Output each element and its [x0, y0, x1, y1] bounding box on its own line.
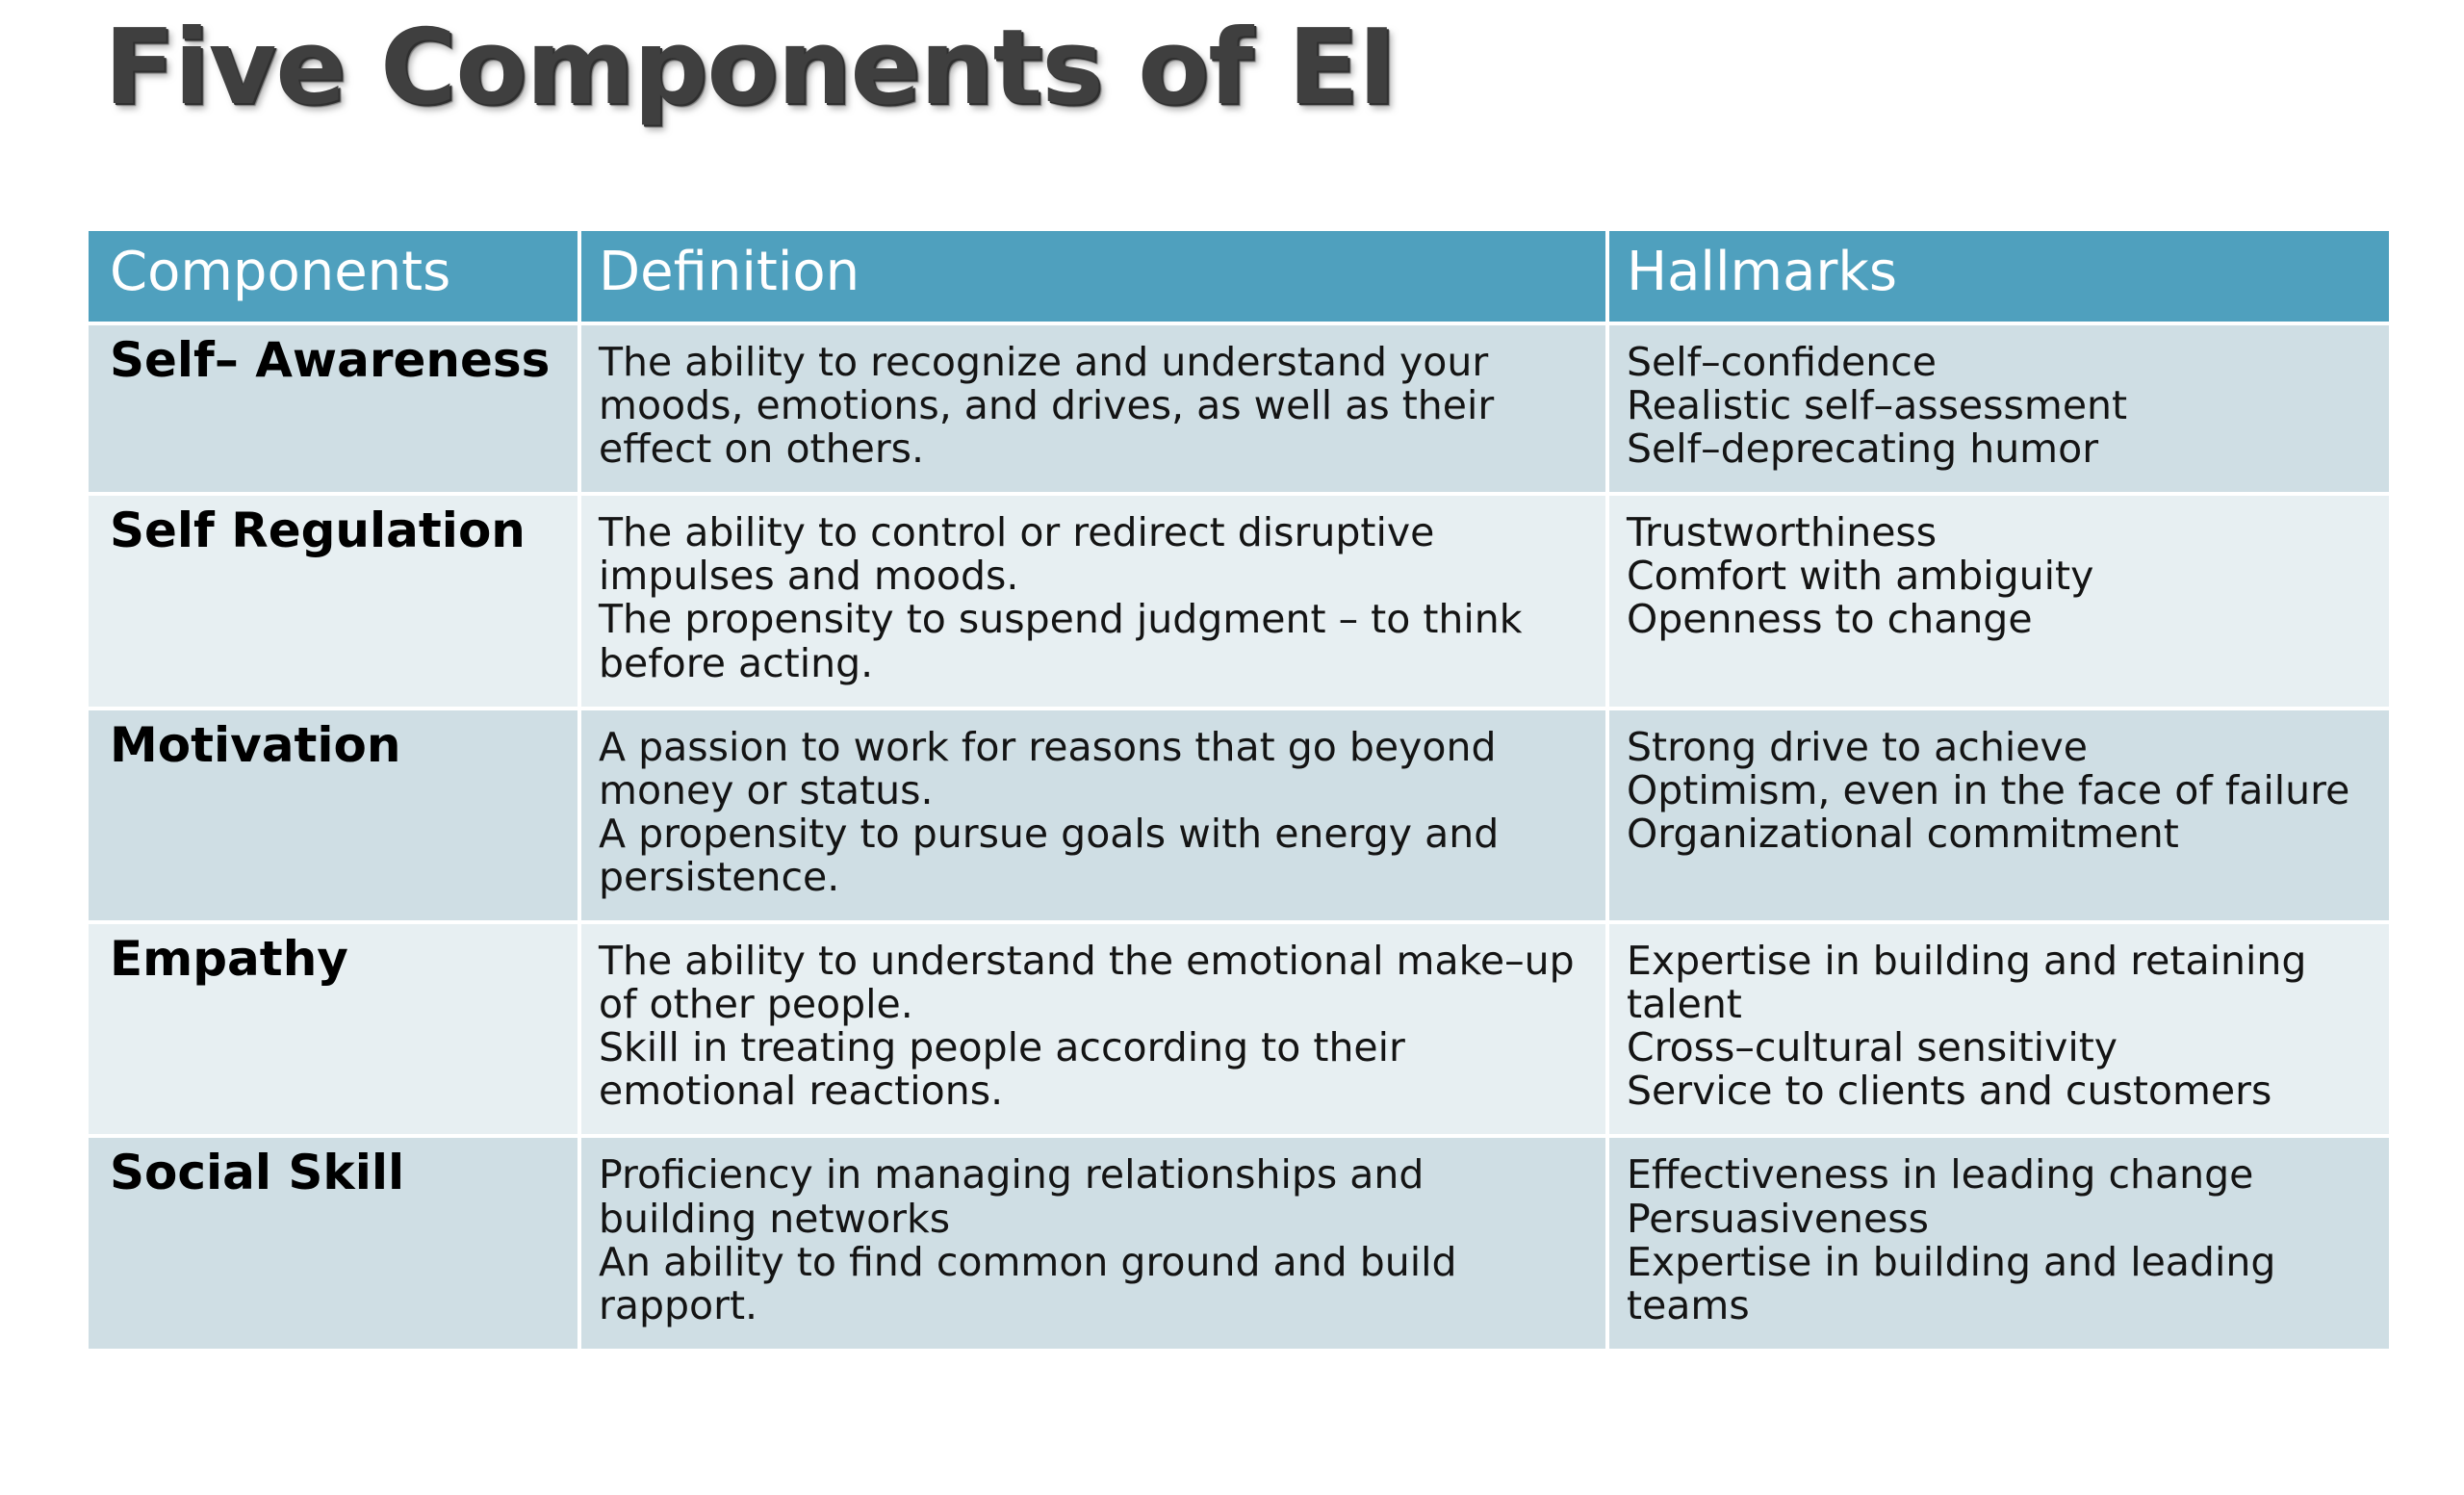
- table-header: Components Definition Hallmarks: [89, 231, 2389, 322]
- cell-definition: The ability to recognize and understand …: [577, 322, 1605, 492]
- table-row: Self– Awareness The ability to recognize…: [89, 322, 2389, 492]
- cell-hallmarks: Trustworthiness Comfort with ambiguity O…: [1605, 492, 2389, 706]
- component-name: Self Regulation: [89, 492, 577, 576]
- hallmarks-text: Self–confidence Realistic self–assessmen…: [1605, 322, 2389, 492]
- cell-hallmarks: Self–confidence Realistic self–assessmen…: [1605, 322, 2389, 492]
- table-header-row: Components Definition Hallmarks: [89, 231, 2389, 322]
- cell-hallmarks: Strong drive to achieve Optimism, even i…: [1605, 707, 2389, 920]
- hallmarks-text: Trustworthiness Comfort with ambiguity O…: [1605, 492, 2389, 662]
- table-row: Social Skill Proficiency in managing rel…: [89, 1134, 2389, 1348]
- column-header-hallmarks-label: Hallmarks: [1627, 239, 1897, 306]
- cell-component: Self Regulation: [89, 492, 577, 706]
- table-body: Self– Awareness The ability to recognize…: [89, 322, 2389, 1349]
- table-row: Empathy The ability to understand the em…: [89, 920, 2389, 1134]
- cell-component: Empathy: [89, 920, 577, 1134]
- column-header-components: Components: [89, 231, 577, 322]
- component-name: Motivation: [89, 707, 577, 790]
- column-header-definition: Definition: [577, 231, 1605, 322]
- hallmarks-text: Strong drive to achieve Optimism, even i…: [1605, 707, 2389, 877]
- table-row: Self Regulation The ability to control o…: [89, 492, 2389, 706]
- column-header-hallmarks: Hallmarks: [1605, 231, 2389, 322]
- column-header-definition-label: Definition: [599, 239, 860, 306]
- cell-component: Motivation: [89, 707, 577, 920]
- hallmarks-text: Effectiveness in leading change Persuasi…: [1605, 1134, 2389, 1348]
- cell-hallmarks: Effectiveness in leading change Persuasi…: [1605, 1134, 2389, 1348]
- definition-text: The ability to control or redirect disru…: [577, 492, 1605, 706]
- cell-component: Self– Awareness: [89, 322, 577, 492]
- component-name: Empathy: [89, 920, 577, 1004]
- definition-text: The ability to understand the emotional …: [577, 920, 1605, 1134]
- hallmarks-text: Expertise in building and retaining tale…: [1605, 920, 2389, 1134]
- component-name: Self– Awareness: [89, 322, 577, 405]
- cell-component: Social Skill: [89, 1134, 577, 1348]
- column-header-components-label: Components: [110, 239, 450, 306]
- cell-hallmarks: Expertise in building and retaining tale…: [1605, 920, 2389, 1134]
- cell-definition: The ability to understand the emotional …: [577, 920, 1605, 1134]
- definition-text: The ability to recognize and understand …: [577, 322, 1605, 492]
- cell-definition: A passion to work for reasons that go be…: [577, 707, 1605, 920]
- definition-text: A passion to work for reasons that go be…: [577, 707, 1605, 920]
- cell-definition: Proficiency in managing relationships an…: [577, 1134, 1605, 1348]
- page-title: Five Components of EI: [104, 2, 1396, 135]
- component-name: Social Skill: [89, 1134, 577, 1218]
- definition-text: Proficiency in managing relationships an…: [577, 1134, 1605, 1348]
- table-row: Motivation A passion to work for reasons…: [89, 707, 2389, 920]
- cell-definition: The ability to control or redirect disru…: [577, 492, 1605, 706]
- five-components-table: Components Definition Hallmarks Self– Aw…: [89, 231, 2389, 1349]
